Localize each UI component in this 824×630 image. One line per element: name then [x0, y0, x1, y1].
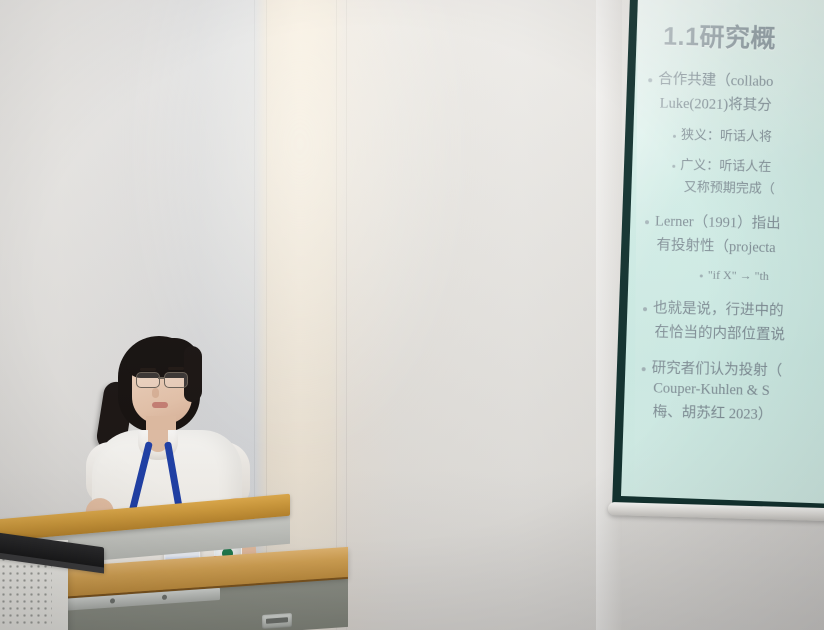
- bullet-dot-icon: [645, 220, 649, 224]
- bullet-dot-icon: [643, 307, 647, 311]
- slide-bullet-cont: 有投射性（projecta: [656, 233, 824, 259]
- slide-subbullet: 狭义：听话人将: [673, 124, 824, 147]
- bullet-dot-icon: [672, 164, 675, 167]
- slide-bullet: 研究者们认为投射（: [641, 356, 824, 382]
- slide-bullet: 也就是说，行进中的: [643, 296, 824, 322]
- grille-perforations: [0, 556, 52, 628]
- projection-screen: 1.1研究概 合作共建（collabo Luke(2021)将其分 狭义：听话人…: [604, 0, 824, 524]
- slide-subbullet-cont: 又称预期完成（: [684, 176, 824, 199]
- lanyard: [60, 330, 250, 510]
- slide-bullet-cont: Luke(2021)将其分: [659, 91, 824, 117]
- bullet-dot-icon: [642, 367, 646, 371]
- slide-bullet: 合作共建（collabo: [648, 67, 824, 93]
- bullet-dot-icon: [673, 134, 676, 137]
- slide-bullet: Lerner（1991）指出: [645, 209, 824, 235]
- slide-content: 1.1研究概 合作共建（collabo Luke(2021)将其分 狭义：听话人…: [629, 2, 824, 507]
- slide-citation-cont: 梅、胡苏红 2023）: [652, 400, 824, 426]
- slide-citation: Couper-Kuhlen & S: [653, 380, 824, 402]
- slide-subbullet: 广义：听话人在: [672, 154, 824, 177]
- rail-screw: [162, 595, 167, 600]
- slide-title: 1.1研究概: [663, 17, 824, 58]
- rail-screw: [110, 598, 115, 603]
- photo-scene: 1.1研究概 合作共建（collabo Luke(2021)将其分 狭义：听话人…: [0, 0, 824, 630]
- bullet-dot-icon: [700, 274, 703, 277]
- drawer-handle[interactable]: [262, 613, 292, 629]
- slide-example: "if X" → "th: [700, 267, 824, 286]
- bullet-dot-icon: [648, 78, 652, 82]
- slide-bullet-cont: 在恰当的内部位置说: [654, 320, 824, 346]
- drawer-handle-slot: [266, 617, 288, 624]
